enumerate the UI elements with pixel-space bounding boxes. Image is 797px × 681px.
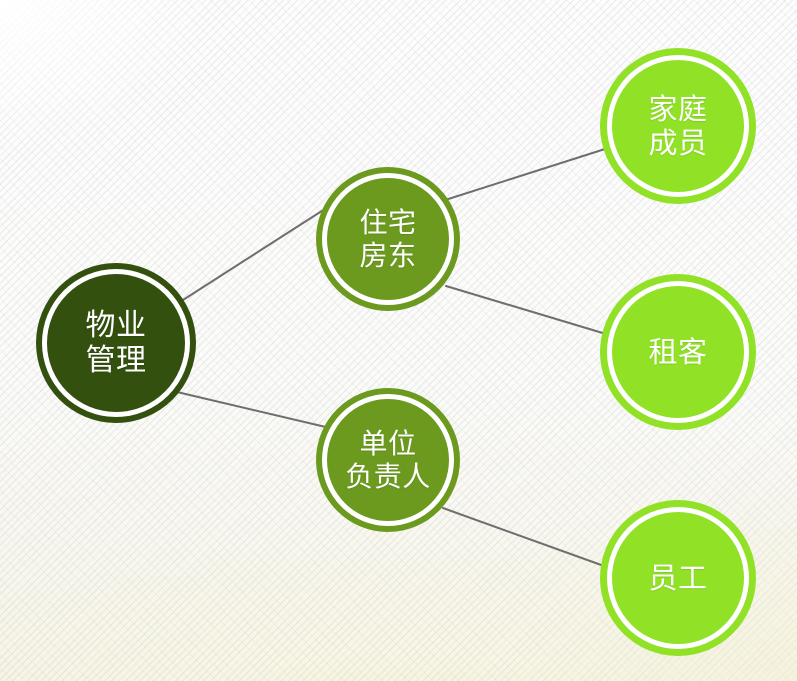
node-mid-unit-manager[interactable]: 单位 负责人: [316, 388, 460, 532]
node-leaf-employee[interactable]: 员工: [600, 500, 756, 656]
node-label-leaf-tenant: 租客: [648, 335, 707, 369]
node-label-root: 物业 管理: [86, 308, 147, 379]
edge-landlord-tenant: [446, 286, 606, 334]
node-label-leaf-employee: 员工: [648, 561, 707, 595]
node-ring-gap-leaf-tenant: 租客: [607, 281, 749, 423]
node-root[interactable]: 物业 管理: [36, 263, 196, 423]
node-label-mid-unit-manager: 单位 负责人: [345, 427, 431, 493]
node-core-mid-unit-manager: 单位 负责人: [327, 399, 449, 521]
node-core-leaf-employee: 员工: [612, 512, 744, 644]
node-label-leaf-family: 家庭 成员: [648, 92, 707, 160]
node-ring-gap-mid-unit-manager: 单位 负责人: [322, 394, 454, 526]
node-core-root: 物业 管理: [47, 274, 185, 412]
node-leaf-family[interactable]: 家庭 成员: [600, 48, 756, 204]
edge-root-landlord: [183, 207, 328, 300]
edge-root-unit-manager: [177, 392, 330, 428]
node-ring-gap-root: 物业 管理: [42, 269, 190, 417]
node-label-mid-landlord: 住宅 房东: [359, 206, 416, 272]
edge-unit-employee: [443, 508, 604, 566]
node-mid-landlord[interactable]: 住宅 房东: [316, 167, 460, 311]
node-leaf-tenant[interactable]: 租客: [600, 274, 756, 430]
node-core-leaf-family: 家庭 成员: [612, 60, 744, 192]
diagram-canvas: 物业 管理住宅 房东单位 负责人家庭 成员租客员工: [0, 0, 797, 681]
node-core-mid-landlord: 住宅 房东: [327, 178, 449, 300]
node-ring-gap-leaf-employee: 员工: [607, 507, 749, 649]
node-core-leaf-tenant: 租客: [612, 286, 744, 418]
node-ring-gap-mid-landlord: 住宅 房东: [322, 173, 454, 305]
node-ring-gap-leaf-family: 家庭 成员: [607, 55, 749, 197]
edge-landlord-family: [442, 149, 605, 201]
